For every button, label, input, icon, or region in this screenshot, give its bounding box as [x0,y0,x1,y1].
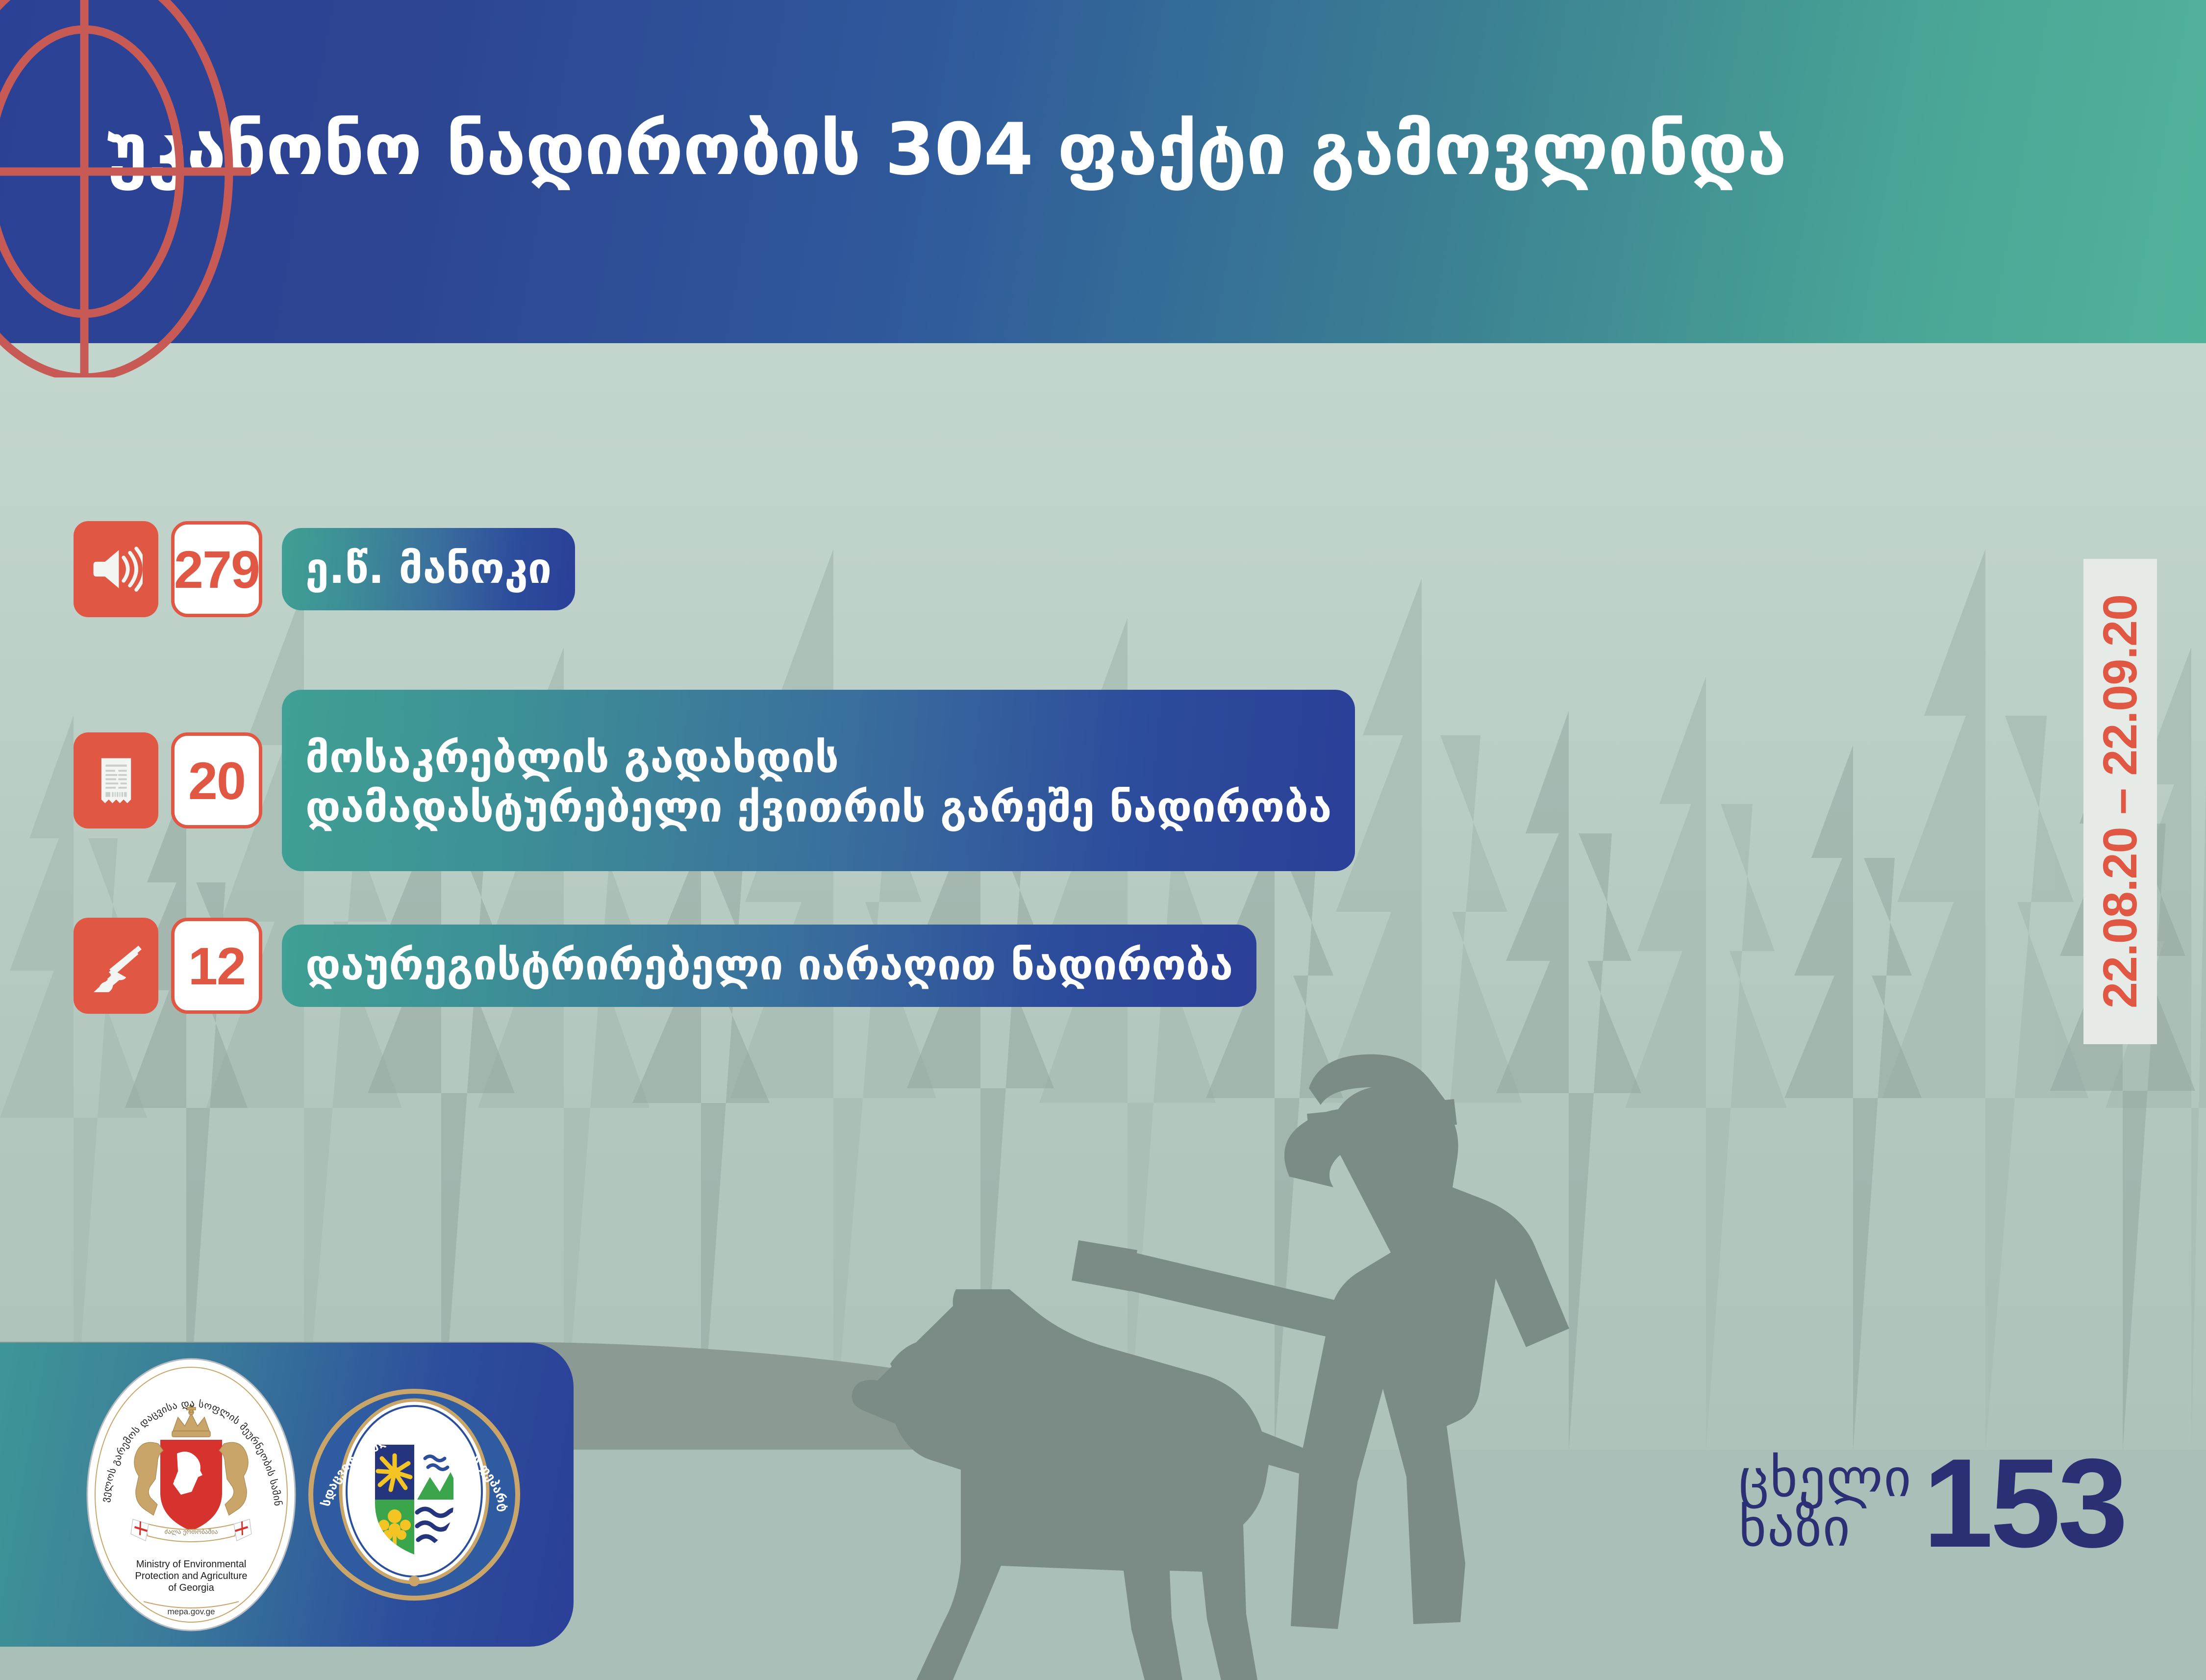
infographic-poster: უკანონო ნადირობის 304 ფაქტი გამოვლინდა [0,0,2206,1680]
stat-count-badge: 12 [171,918,262,1014]
mepa-emblem: ძალა ერთობაშია საქართველოს გარემოს დაცვი… [86,1357,297,1632]
stat-row: 279 ე.წ. მანოკი [74,521,575,617]
date-range-ribbon: 22.08.20 – 22.09.20 [2083,559,2157,1044]
stat-count-badge: 279 [171,521,262,617]
stat-label: ე.წ. მანოკი [305,544,551,594]
hotline-word-line2: ხაზი [1739,1503,1851,1553]
stat-row: 12 დაურეგისტრირებელი იარაღით ნადირობა [74,918,1256,1014]
date-range-text: 22.08.20 – 22.09.20 [2093,595,2148,1008]
svg-text:ძალა ერთობაშია: ძალა ერთობაშია [165,1529,218,1536]
stat-label-pill: მოსაკრებლის გადახდის დამადასტურებელი ქვი… [282,690,1355,871]
stat-count: 20 [188,750,245,811]
mepa-name-en-2: Protection and Agriculture [135,1571,247,1581]
hotline-label: ცხელი ხაზი [1739,1454,1912,1553]
stat-count-badge: 20 [171,732,262,828]
stat-count: 279 [174,539,259,600]
receipt-barcode-icon [74,732,158,828]
mepa-website: mepa.gov.ge [167,1607,215,1616]
shotgun-rifle-icon [74,918,158,1014]
mepa-name-en-3: of Georgia [168,1582,214,1593]
stat-label: მოსაკრებლის გადახდის დამადასტურებელი ქვი… [305,733,1331,833]
stat-label: დაურეგისტრირებელი იარაღით ნადირობა [305,941,1233,990]
stat-label-pill: დაურეგისტრირებელი იარაღით ნადირობა [282,925,1256,1007]
hotline-block: ცხელი ხაზი 153 [1739,1451,2125,1555]
stat-row: 20 მოსაკრებლის გადახდის დამადასტურებელი … [74,690,1355,871]
mepa-name-en-1: Ministry of Environmental [136,1559,247,1570]
stat-count: 12 [188,935,245,997]
hotline-number: 153 [1923,1451,2125,1555]
logo-panel: ძალა ერთობაშია საქართველოს გარემოს დაცვი… [0,1343,574,1647]
environmental-supervision-department-emblem: გარემოსდაცვითი ზედამხედველობის დეპარტამე… [305,1386,524,1604]
stat-label-pill: ე.წ. მანოკი [282,528,575,610]
hotline-word-line1: ცხელი [1739,1454,1912,1504]
speaker-sound-icon [74,521,158,617]
